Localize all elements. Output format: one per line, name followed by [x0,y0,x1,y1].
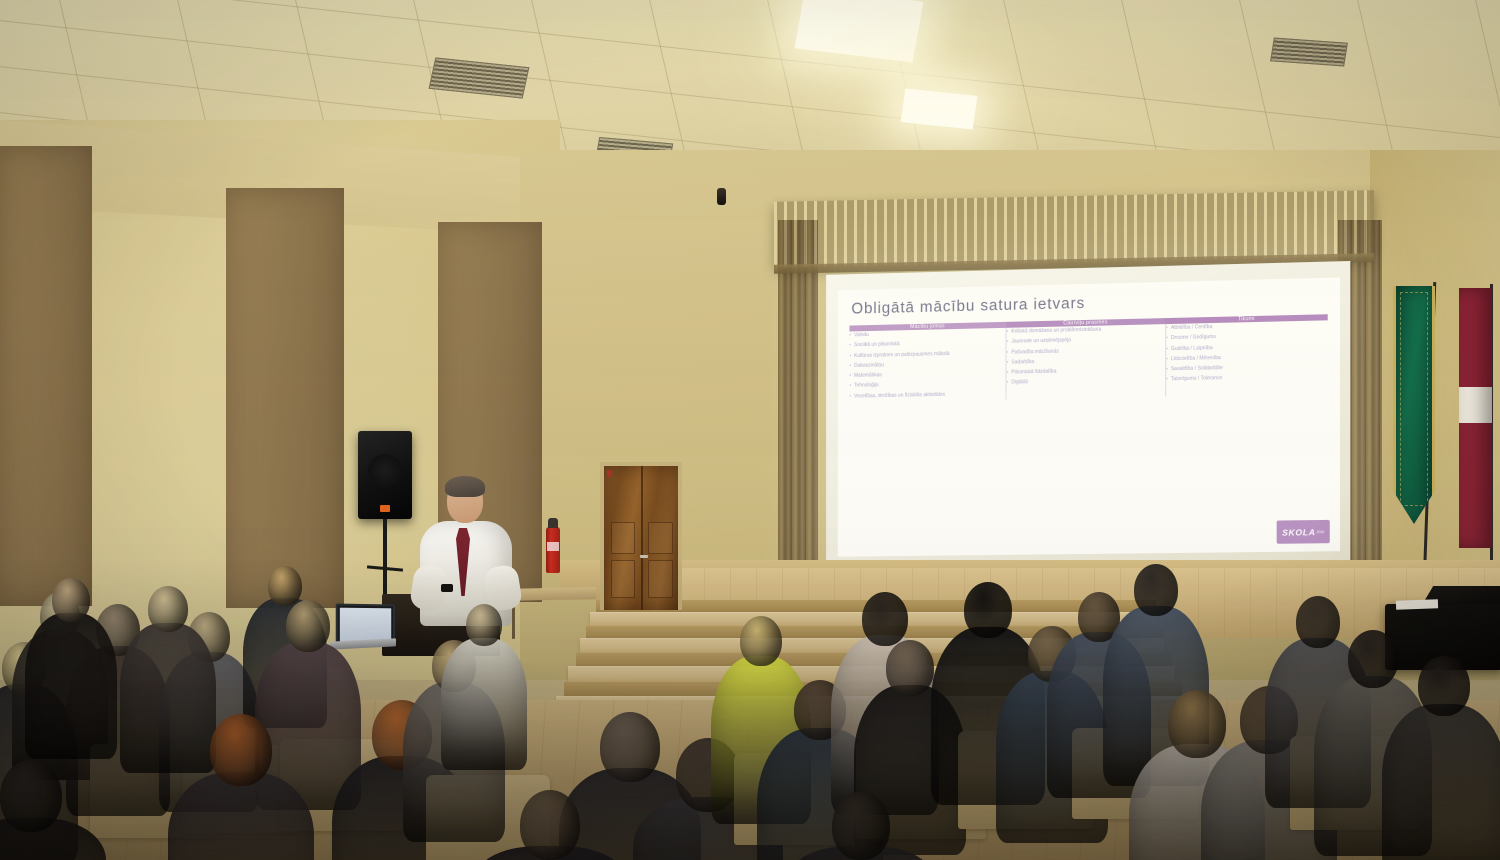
fire-extinguisher-icon [546,527,560,573]
list-item-label: Kritiskā domāšana un problēmrisināšana [1011,326,1101,337]
bullet-icon: • [1166,365,1168,374]
audience-member-head [1418,656,1470,716]
audience-member-head [1168,690,1226,758]
column-body-caurviju-prasmes: •Kritiskā domāšana un problēmrisināšana … [1006,324,1165,399]
list-item-label: Dabaszinātņu [854,361,884,370]
list-item: •Digitālā [1007,376,1165,388]
audience-member-body [1382,704,1500,860]
bullet-icon: • [1007,338,1009,347]
list-item-label: Savaldība / Solidaritāte [1171,364,1223,374]
list-item-label: Pašvadīta mācīšanās [1011,347,1058,357]
audience-member-head [964,582,1012,638]
list-item-label: Taisnīgums / Tolerance [1171,375,1223,385]
list-item-label: Sadarbība [1011,358,1034,367]
door-handle[interactable] [640,555,648,558]
list-item-label: Matemātikas [854,371,882,380]
assembly-hall-photo: Obligātā mācību satura ietvars Mācību jo… [0,0,1500,860]
laptop-display [340,608,391,643]
bullet-icon: • [1007,379,1009,388]
column-body-tikumi: •Atbildība / Centība •Drosme / Godīgums … [1166,321,1328,397]
audience-member-head [466,604,502,646]
acoustic-panel-1 [0,146,92,606]
ceiling-sensor-icon [717,188,726,205]
bullet-icon: • [1166,335,1168,344]
list-item-label: Pilsoniskā līdzdalība [1011,368,1056,378]
audience-member-head [1134,564,1178,616]
sheet-music [1396,599,1438,609]
bullet-icon: • [849,372,851,381]
door-leaf-split [641,466,643,610]
bullet-icon: • [849,362,851,371]
audience-member-head [886,640,934,696]
audience-member-head [52,578,90,622]
audience-member-head [600,712,660,782]
bullet-icon: • [1007,348,1009,357]
presentation-slide: Obligātā mācību satura ietvars Mācību jo… [838,277,1340,556]
bullet-icon: • [849,382,851,391]
acoustic-panel-2 [226,188,344,608]
stage-valance-curtain [774,190,1374,268]
audience-member-head [1296,596,1340,648]
list-item-label: Gudrība / Laipnība [1171,344,1213,354]
list-item: •Veselības, drošības un fizisklās aktivi… [849,389,1005,401]
door-panel-upper-right [648,522,673,554]
table-body-row: •Valodu •Sociālā un pilsoniskā •Kultūras… [849,321,1327,403]
bullet-icon: • [1166,376,1168,385]
column-body-macibu-jomas: •Valodu •Sociālā un pilsoniskā •Kultūras… [849,328,1006,402]
bullet-icon: • [849,342,851,351]
stage-curtain-left [778,220,818,580]
slide-title: Obligātā mācību satura ietvars [851,293,1118,319]
list-item-label: Tehnoloģiju [854,382,879,391]
audience-member-head [862,592,908,646]
list-item-label: Kultūras izpratnes un pašizpausmes māksl… [854,350,949,361]
bullet-icon: • [849,392,851,401]
audience-member-head [1348,630,1398,688]
projection-screen: Obligātā mācību satura ietvars Mācību jo… [826,261,1350,571]
audience-member-body [25,613,117,759]
list-item-label: Atbildība / Centība [1171,323,1213,333]
bullet-icon: • [1007,359,1009,368]
bullet-icon: • [1166,345,1168,354]
speaker-brand-badge [380,505,390,512]
bullet-icon: • [1166,355,1168,364]
list-item-label: Veselības, drošības un fizisklās aktivit… [854,391,945,401]
audience-member-head [832,792,890,860]
list-item-label: Sociālā un pilsoniskā [854,341,900,351]
list-item-label: Valodu [854,331,869,340]
door-panel-lower-left [611,560,635,598]
bullet-icon: • [1007,369,1009,378]
wooden-double-door[interactable] [604,466,678,610]
door-panel-upper-left [611,522,635,554]
door-panel-lower-right [648,560,673,598]
list-item-label: Līdzcietība / Mērenība [1171,354,1221,364]
list-item-label: Jaunrade un uzņēmējspēja [1011,337,1071,347]
list-item-label: Drosme / Godīgums [1171,333,1216,343]
audience-member-head [148,586,188,632]
audience-member-head [520,790,580,860]
school-banner-flag [1393,286,1435,524]
presenter-hair [445,476,485,497]
audience-member-body [441,638,527,770]
audience-member-head [268,566,302,606]
audience-member-head [210,714,272,786]
pa-speaker [358,431,412,519]
presenter-clicker [441,584,453,592]
logo-suffix: 2030 [1317,530,1325,534]
bullet-icon: • [1166,324,1168,333]
audience-member-head [740,616,782,666]
bullet-icon: • [849,352,851,361]
speaker-cone-icon [368,454,402,488]
latvian-flag [1459,288,1492,548]
bullet-icon: • [1007,328,1009,337]
list-item-label: Digitālā [1011,379,1028,388]
door-sign-icon [607,470,612,477]
audience-member-body [120,623,216,773]
air-vent-3 [1270,38,1348,67]
audience-member-head [0,760,62,832]
bullet-icon: • [849,332,851,341]
list-item: •Taisnīgums / Tolerance [1166,372,1328,384]
slide-table: Mācību jomas Caurviju prasmes Tikumi •Va… [849,314,1327,402]
skola2030-logo: SKOLA2030 [1277,520,1330,544]
audience-member-head [286,600,330,652]
logo-text: SKOLA [1282,527,1315,538]
